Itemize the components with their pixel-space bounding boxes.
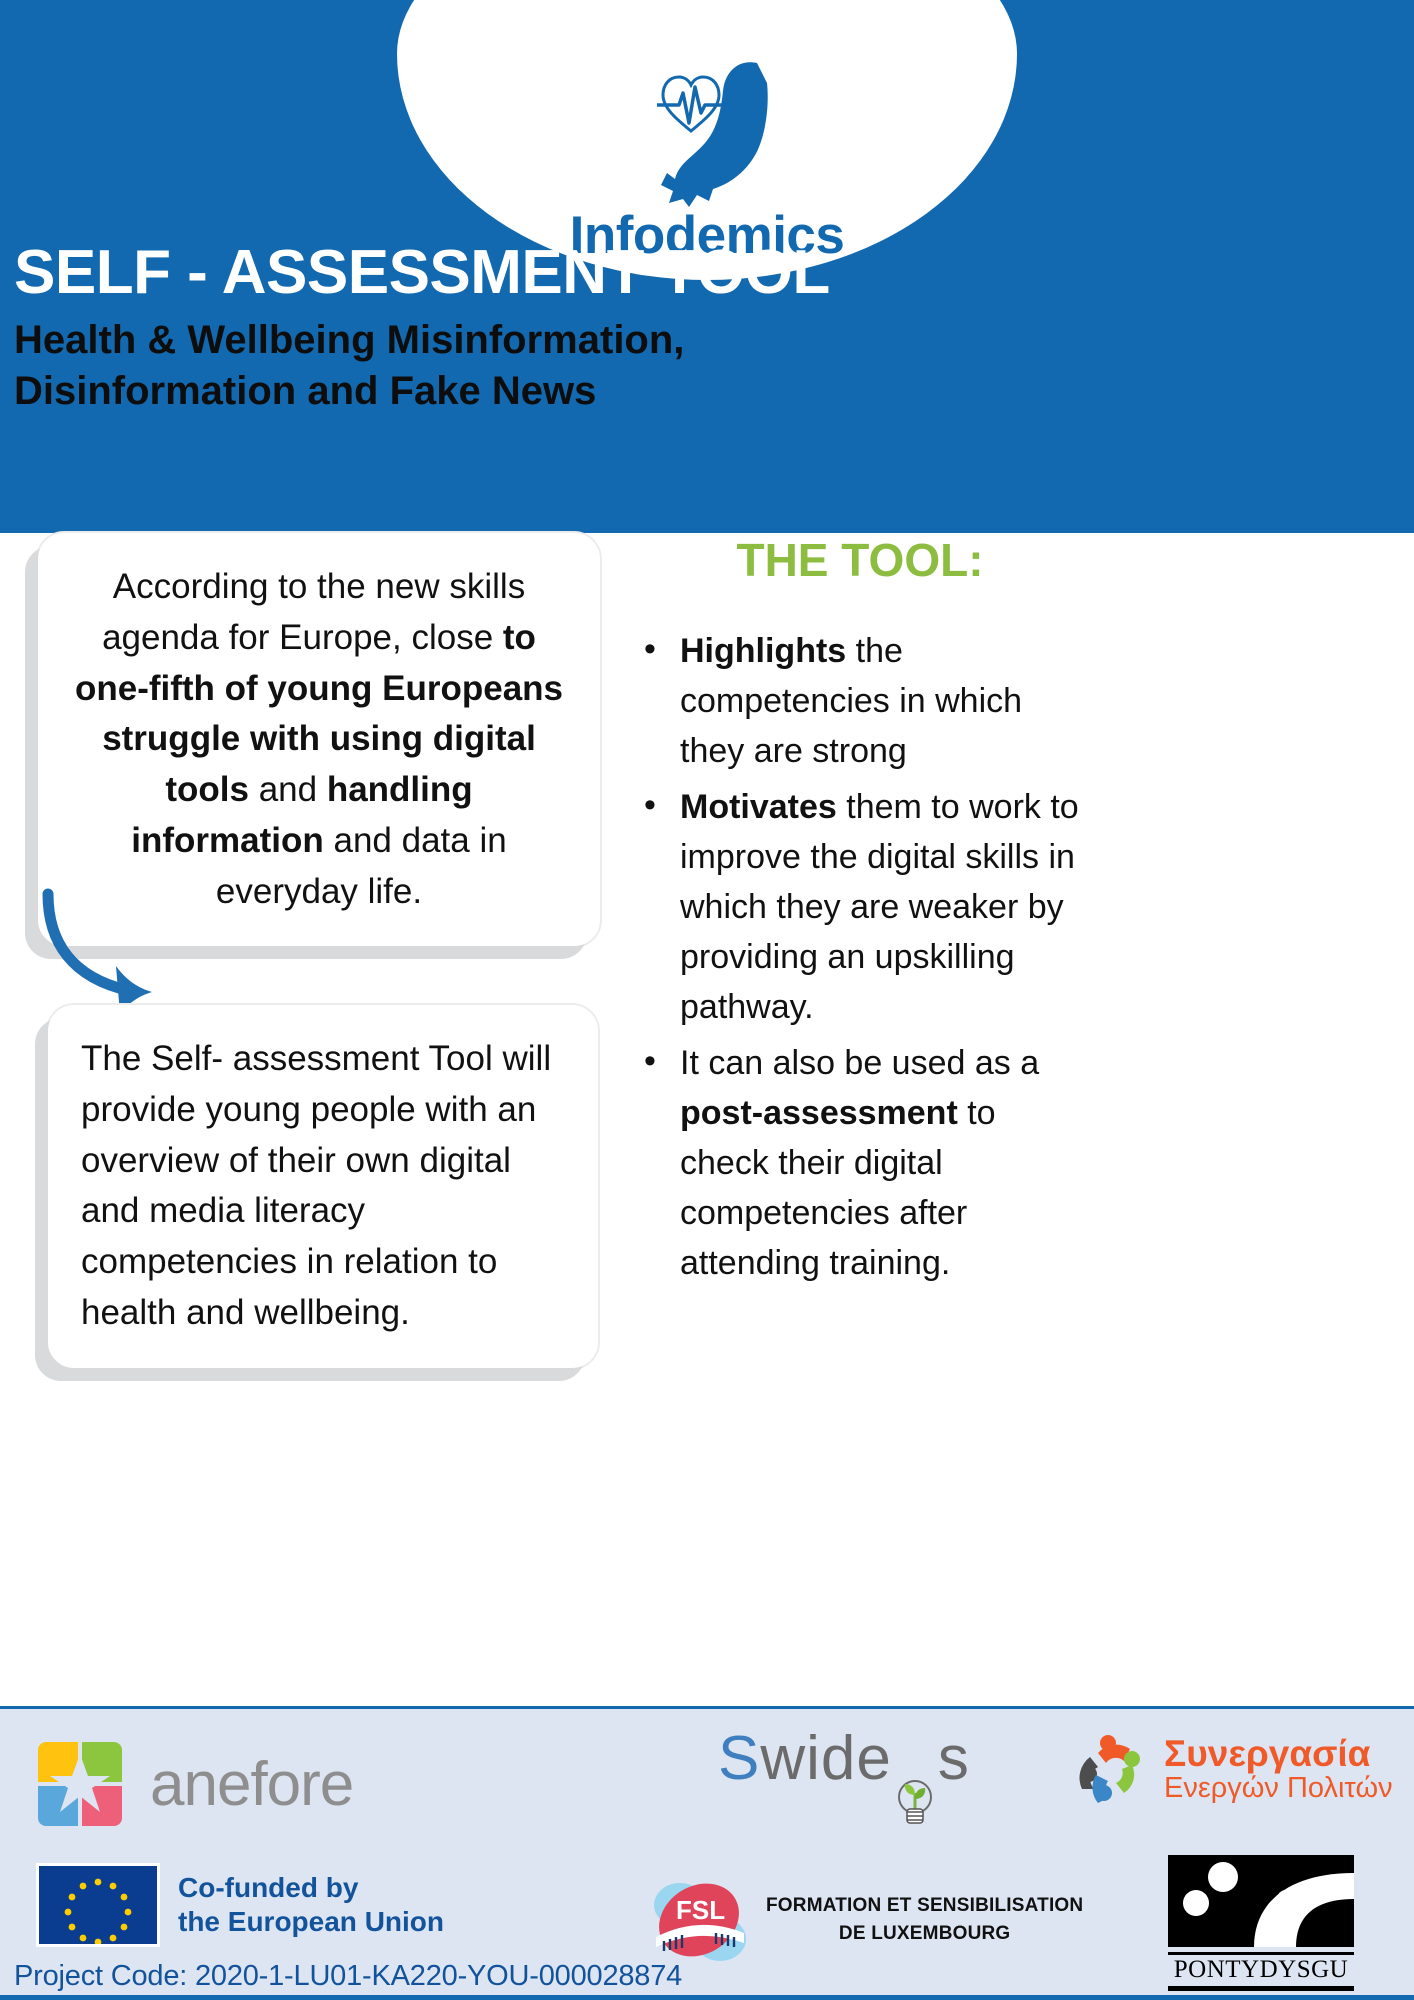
three-people-circle-icon	[1068, 1727, 1154, 1813]
callout-description-text: The Self- assessment Tool will provide y…	[51, 1008, 595, 1365]
header-titles: SELF - ASSESSMENT TOOL Health & Wellbein…	[14, 240, 1400, 417]
fsl-logo: FSL FORMATION ET SENSIBILISATION DE LUXE…	[640, 1861, 1083, 1979]
stat-text-1: According to the new skills agenda for E…	[102, 567, 525, 657]
pontydysgu-wordmark: PONTYDYSGU	[1168, 1952, 1354, 1991]
eu-flag-icon	[36, 1863, 160, 1947]
callout-statistic: According to the new skills agenda for E…	[38, 533, 600, 946]
four-color-pinwheel-icon	[32, 1736, 128, 1832]
list-item: Motivates them to work to improve the di…	[630, 783, 1090, 1033]
fsl-bridge-icon: FSL	[640, 1861, 758, 1979]
page-subtitle: Health & Wellbeing Misinformation, Disin…	[14, 315, 1400, 417]
heart-pulse-head-icon	[617, 57, 797, 207]
footer-partner-row-bottom: Co-funded by the European Union Project …	[0, 1859, 1414, 1995]
poster-root: Infodemics SELF - ASSESSMENT TOOL Health…	[0, 0, 1414, 2000]
eu-line-1: Co-funded by	[178, 1871, 444, 1905]
tool-column: THE TOOL: Highlights the competencies in…	[630, 533, 1090, 1295]
project-code-label: Project Code: 2020-1-LU01-KA220-YOU-0000…	[14, 1960, 682, 1993]
eu-line-2: the European Union	[178, 1905, 444, 1939]
tool-item-1-bold: Motivates	[680, 788, 837, 826]
page-title: SELF - ASSESSMENT TOOL	[14, 240, 1400, 305]
footer-partner-row-top: anefore Swide s	[0, 1709, 1414, 1859]
pontydysgu-mark-icon	[1168, 1855, 1354, 1947]
synergasia-wordmark: Συνεργασία Ενεργών Πολιτών	[1164, 1735, 1393, 1805]
swideas-logo: Swide s	[718, 1723, 970, 1794]
page-subtitle-line1: Health & Wellbeing Misinformation,	[14, 315, 1400, 366]
anefore-logo: anefore	[32, 1736, 353, 1832]
tool-benefits-list: Highlights the competencies in which the…	[630, 627, 1090, 1289]
callout-statistic-text: According to the new skills agenda for E…	[41, 536, 597, 943]
poster-body: According to the new skills agenda for E…	[0, 533, 1414, 1706]
list-item: Highlights the competencies in which the…	[630, 627, 1090, 777]
synergasia-main-label: Συνεργασία	[1164, 1735, 1393, 1773]
poster-header: Infodemics SELF - ASSESSMENT TOOL Health…	[0, 0, 1414, 533]
tool-heading: THE TOOL:	[630, 533, 1090, 587]
sprout-lightbulb-icon	[892, 1775, 938, 1831]
eu-cofunding-text: Co-funded by the European Union	[178, 1871, 444, 1939]
fsl-caption: FORMATION ET SENSIBILISATION DE LUXEMBOU…	[766, 1892, 1083, 1949]
synergasia-sub-label: Ενεργών Πολιτών	[1164, 1773, 1393, 1805]
tool-item-0-bold: Highlights	[680, 632, 846, 670]
fsl-line-1: FORMATION ET SENSIBILISATION	[766, 1892, 1083, 1921]
callout-description: The Self- assessment Tool will provide y…	[48, 1005, 598, 1368]
pontydysgu-logo: PONTYDYSGU	[1168, 1855, 1354, 1991]
poster-footer: anefore Swide s	[0, 1706, 1414, 2000]
tool-item-2-bold: post-assessment	[680, 1094, 958, 1132]
list-item: It can also be used as a post-assessment…	[630, 1039, 1090, 1289]
tool-item-2-pre: It can also be used as a	[680, 1044, 1039, 1082]
stat-text-2: and	[249, 770, 327, 809]
svg-text:FSL: FSL	[676, 1895, 725, 1925]
eu-cofunding-logo: Co-funded by the European Union	[36, 1863, 444, 1947]
fsl-line-2: DE LUXEMBOURG	[766, 1920, 1083, 1949]
anefore-wordmark: anefore	[150, 1749, 353, 1820]
swideas-wordmark: Swide s	[718, 1723, 970, 1794]
page-subtitle-line2: Disinformation and Fake News	[14, 366, 1400, 417]
synergasia-logo: Συνεργασία Ενεργών Πολιτών	[1068, 1727, 1393, 1813]
